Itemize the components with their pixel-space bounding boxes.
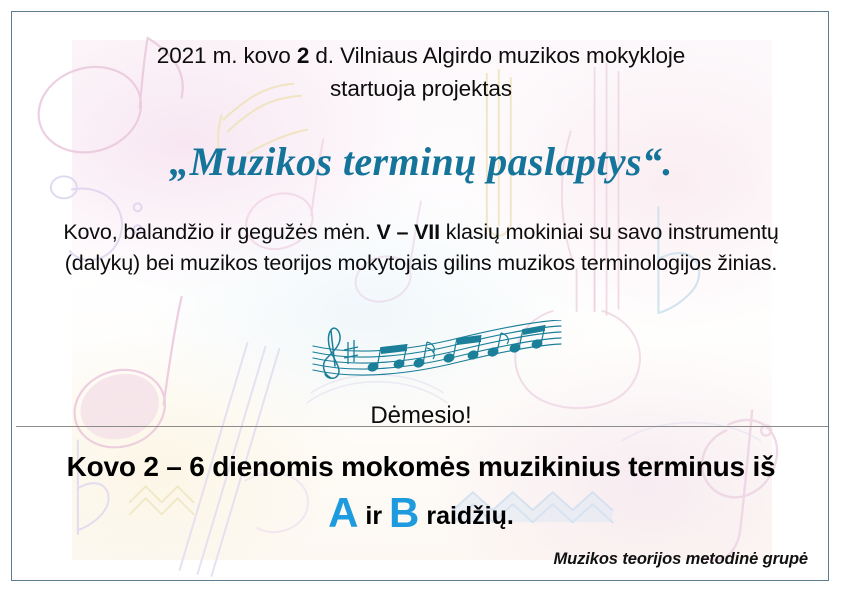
letter-b: B	[389, 489, 419, 536]
conjunction-ir: ir	[358, 502, 389, 530]
paragraph-grades-bold: V – VII	[376, 220, 439, 244]
letters-suffix: raidžių.	[419, 502, 513, 530]
note-group-5	[509, 325, 545, 353]
section-divider	[16, 426, 828, 427]
intro-line2: startuoja projektas	[330, 76, 512, 101]
announcement-line: Kovo 2 – 6 dienomis mokomės muzikinius t…	[32, 448, 810, 486]
intro-text: 2021 m. kovo 2 d. Vilniaus Algirdo muzik…	[52, 39, 790, 105]
intro-line1-bold-day: 2	[297, 43, 309, 68]
announcement-letters: A ir B raidžių.	[32, 490, 810, 539]
treble-clef-icon	[324, 328, 341, 378]
musical-staff-graphic	[307, 320, 567, 382]
page-title: „Muzikos terminų paslaptys“.	[52, 138, 790, 186]
letter-a: A	[328, 489, 358, 536]
signature-text: Muzikos teorijos metodinė grupė	[32, 550, 808, 569]
intro-line1-before: 2021 m. kovo	[157, 43, 297, 68]
slide-content: 2021 m. kovo 2 d. Vilniaus Algirdo muzik…	[12, 12, 828, 580]
announcement-slide: 2021 m. kovo 2 d. Vilniaus Algirdo muzik…	[11, 11, 829, 581]
intro-line1-after: d. Vilniaus Algirdo muzikos mokykloje	[309, 43, 685, 68]
paragraph-part1: Kovo, balandžio ir gegužės mėn.	[63, 220, 376, 244]
description-paragraph: Kovo, balandžio ir gegužės mėn. V – VII …	[50, 217, 792, 279]
musical-staff-icon	[307, 320, 567, 382]
sharp-sign-icon	[344, 340, 358, 364]
